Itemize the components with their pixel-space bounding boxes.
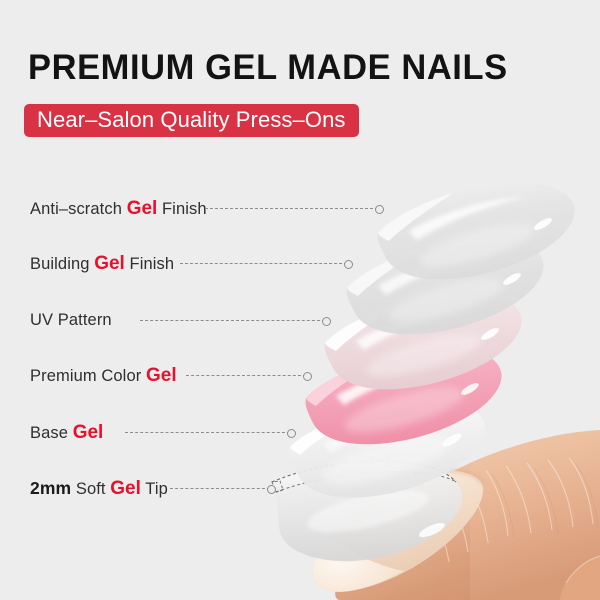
label-part: Base [30,424,73,442]
layer-soft-gel-tip [272,461,462,561]
product-infographic: PREMIUM GEL MADE NAILS Near–Salon Qualit… [0,0,600,600]
header: PREMIUM GEL MADE NAILS Near–Salon Qualit… [0,0,600,150]
label-part: Tip [141,480,168,498]
layer-anti-scratch-gel-finish [378,183,575,279]
label-part: UV Pattern [30,311,112,329]
leader-line [205,208,378,210]
layer-building-gel-finish [347,238,544,334]
label-part: Finish [125,255,174,273]
label-part: Building [30,255,94,273]
callout-label: 2mm Soft Gel Tip [30,479,168,498]
label-part: Premium Color [30,367,146,385]
leader-endpoint [375,205,384,214]
callout-label: Anti–scratch Gel Finish [30,199,207,218]
leader-line [180,263,347,265]
gel-word: Gel [110,478,141,499]
gel-word: Gel [146,365,177,386]
gel-word: Gel [127,198,158,219]
fingertip [313,430,600,600]
subtitle-badge: Near–Salon Quality Press–Ons [24,104,359,137]
leader-endpoint [267,485,276,494]
gel-word: Gel [94,253,125,274]
page-title: PREMIUM GEL MADE NAILS [28,48,508,88]
label-part: Finish [157,200,206,218]
leader-line [125,432,290,434]
label-part: Soft [71,480,110,498]
leader-endpoint [322,317,331,326]
label-part-bold: 2mm [30,478,71,498]
callout-label: UV Pattern [30,312,112,329]
leader-endpoint [303,372,312,381]
leader-line [170,488,270,490]
leader-line [186,375,306,377]
layer-base-gel [290,401,486,497]
callout-label: Premium Color Gel [30,366,177,385]
gel-word: Gel [73,422,104,443]
callout-label: Base Gel [30,423,103,442]
leader-line [140,320,325,322]
layer-premium-color-gel [305,348,501,444]
subtitle-text: Near–Salon Quality Press–Ons [37,109,346,131]
callout-label: Building Gel Finish [30,254,174,273]
layer-uv-pattern [325,293,522,389]
leader-endpoint [344,260,353,269]
leader-endpoint [287,429,296,438]
label-part: Anti–scratch [30,200,127,218]
